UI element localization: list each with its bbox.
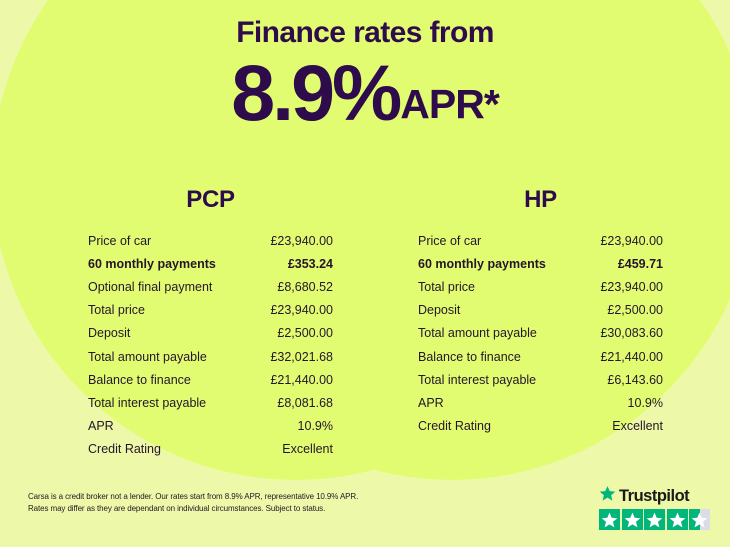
row-label: Price of car bbox=[88, 229, 252, 252]
trustpilot-wordmark: Trustpilot bbox=[619, 488, 689, 505]
trustpilot-star-full bbox=[599, 509, 620, 530]
plan-hp-title: HP bbox=[418, 186, 663, 214]
row-label: Credit Rating bbox=[88, 438, 252, 461]
table-row: 60 monthly payments£459.71 bbox=[418, 252, 663, 275]
row-label: Deposit bbox=[418, 299, 582, 322]
row-label: Total interest payable bbox=[88, 391, 252, 414]
trustpilot-star-icon bbox=[599, 485, 616, 507]
row-label: Price of car bbox=[418, 229, 582, 252]
table-row: Total interest payable£6,143.60 bbox=[418, 368, 663, 391]
plan-pcp-table: Price of car£23,940.0060 monthly payment… bbox=[88, 229, 333, 461]
row-value: £21,440.00 bbox=[582, 345, 663, 368]
row-label: APR bbox=[418, 391, 582, 414]
trustpilot-star-full bbox=[644, 509, 665, 530]
table-row: Total price£23,940.00 bbox=[88, 299, 333, 322]
row-value: £23,940.00 bbox=[582, 275, 663, 298]
row-value: £2,500.00 bbox=[582, 299, 663, 322]
page-title: Finance rates from bbox=[0, 0, 730, 49]
disclaimer-line-2: Rates may differ as they are dependant o… bbox=[28, 503, 458, 515]
row-value: £6,143.60 bbox=[582, 368, 663, 391]
row-value: £23,940.00 bbox=[582, 229, 663, 252]
row-label: 60 monthly payments bbox=[88, 252, 252, 275]
table-row: Balance to finance£21,440.00 bbox=[418, 345, 663, 368]
table-row: APR10.9% bbox=[418, 391, 663, 414]
row-value: £30,083.60 bbox=[582, 322, 663, 345]
table-row: Total amount payable£30,083.60 bbox=[418, 322, 663, 345]
header: Finance rates from 8.9% APR* bbox=[0, 0, 730, 128]
table-row: Total amount payable£32,021.68 bbox=[88, 345, 333, 368]
table-row: Total interest payable£8,081.68 bbox=[88, 391, 333, 414]
headline-rate-row: 8.9% APR* bbox=[0, 57, 730, 128]
trustpilot-widget[interactable]: Trustpilot bbox=[599, 486, 713, 530]
trustpilot-star-rating bbox=[599, 509, 713, 530]
row-label: Total amount payable bbox=[418, 322, 582, 345]
row-value: £2,500.00 bbox=[252, 322, 333, 345]
table-row: Total price£23,940.00 bbox=[418, 275, 663, 298]
plan-hp: HP Price of car£23,940.0060 monthly paym… bbox=[418, 186, 663, 438]
row-label: Total amount payable bbox=[88, 345, 252, 368]
row-value: 10.9% bbox=[252, 415, 333, 438]
row-value: £32,021.68 bbox=[252, 345, 333, 368]
row-value: £353.24 bbox=[252, 252, 333, 275]
row-label: APR bbox=[88, 415, 252, 438]
disclaimer-line-1: Carsa is a credit broker not a lender. O… bbox=[28, 491, 458, 503]
row-value: 10.9% bbox=[582, 391, 663, 414]
table-row: Credit RatingExcellent bbox=[88, 438, 333, 461]
table-row: Balance to finance£21,440.00 bbox=[88, 368, 333, 391]
row-label: Credit Rating bbox=[418, 415, 582, 438]
trustpilot-star-full bbox=[667, 509, 688, 530]
headline-rate-value: 8.9% bbox=[231, 57, 399, 128]
trustpilot-star-full bbox=[622, 509, 643, 530]
trustpilot-header: Trustpilot bbox=[599, 486, 713, 506]
row-value: £21,440.00 bbox=[252, 368, 333, 391]
plan-hp-table: Price of car£23,940.0060 monthly payment… bbox=[418, 229, 663, 438]
table-row: APR10.9% bbox=[88, 415, 333, 438]
headline-apr-label: APR* bbox=[400, 84, 499, 128]
row-label: Optional final payment bbox=[88, 275, 252, 298]
row-value: £8,680.52 bbox=[252, 275, 333, 298]
trustpilot-star-half bbox=[689, 509, 710, 530]
promo-banner: Finance rates from 8.9% APR* PCP Price o… bbox=[0, 0, 730, 547]
row-value: £459.71 bbox=[582, 252, 663, 275]
row-label: Total price bbox=[418, 275, 582, 298]
table-row: Deposit£2,500.00 bbox=[88, 322, 333, 345]
plan-pcp-title: PCP bbox=[88, 186, 333, 214]
table-row: Optional final payment£8,680.52 bbox=[88, 275, 333, 298]
row-label: 60 monthly payments bbox=[418, 252, 582, 275]
row-value: Excellent bbox=[582, 415, 663, 438]
table-row: Deposit£2,500.00 bbox=[418, 299, 663, 322]
plan-pcp: PCP Price of car£23,940.0060 monthly pay… bbox=[88, 186, 333, 461]
row-label: Balance to finance bbox=[418, 345, 582, 368]
row-label: Deposit bbox=[88, 322, 252, 345]
row-label: Total price bbox=[88, 299, 252, 322]
row-value: £23,940.00 bbox=[252, 229, 333, 252]
table-row: Credit RatingExcellent bbox=[418, 415, 663, 438]
row-label: Balance to finance bbox=[88, 368, 252, 391]
row-label: Total interest payable bbox=[418, 368, 582, 391]
row-value: Excellent bbox=[252, 438, 333, 461]
footer-disclaimer: Carsa is a credit broker not a lender. O… bbox=[28, 491, 458, 516]
table-row: Price of car£23,940.00 bbox=[418, 229, 663, 252]
table-row: 60 monthly payments£353.24 bbox=[88, 252, 333, 275]
table-row: Price of car£23,940.00 bbox=[88, 229, 333, 252]
row-value: £23,940.00 bbox=[252, 299, 333, 322]
row-value: £8,081.68 bbox=[252, 391, 333, 414]
